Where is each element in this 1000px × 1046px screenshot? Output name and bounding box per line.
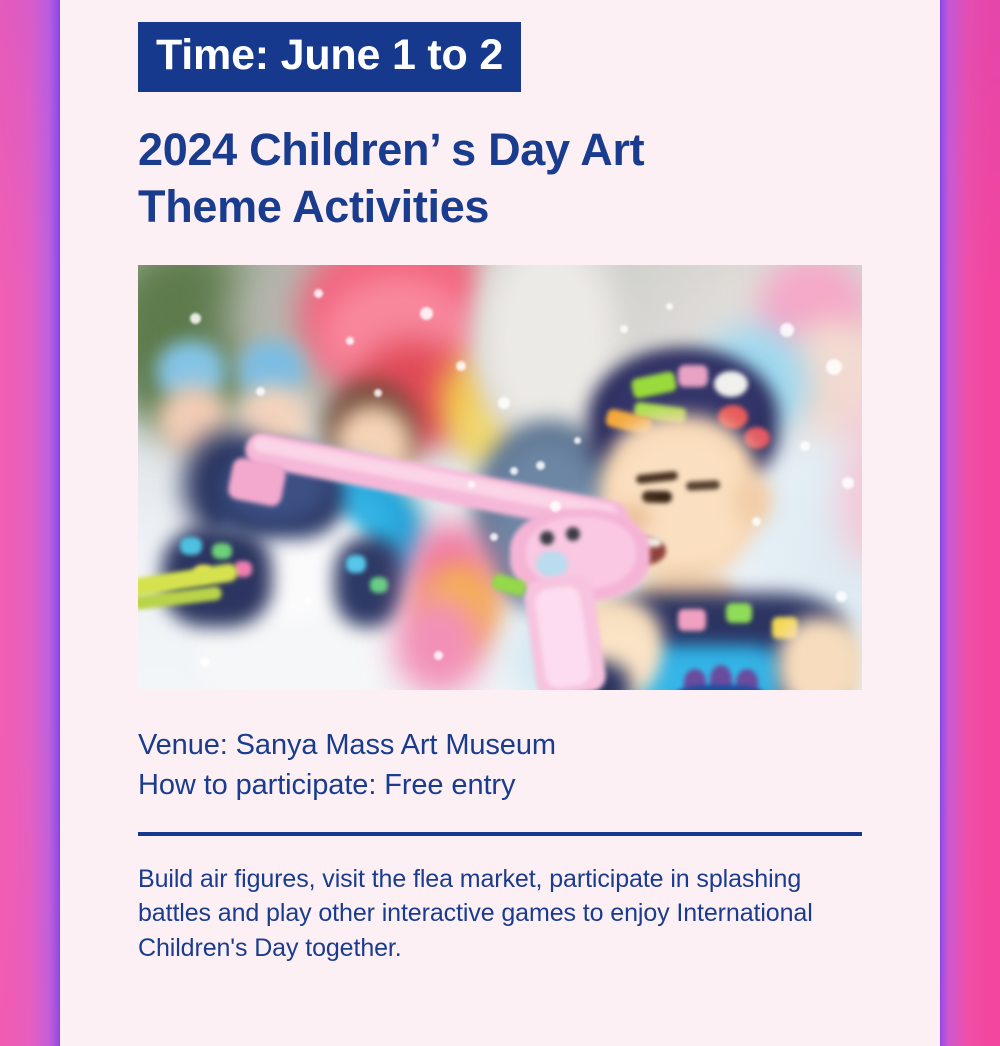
poster-content: Time: June 1 to 2 2024 Children’ s Day A… — [138, 0, 862, 965]
section-divider — [138, 832, 862, 836]
right-gradient-bar — [940, 0, 1000, 1046]
description-text: Build air figures, visit the flea market… — [138, 862, 838, 966]
poster-card: Time: June 1 to 2 2024 Children’ s Day A… — [60, 0, 940, 1046]
venue-line: Venue: Sanya Mass Art Museum — [138, 726, 862, 766]
participation-line: How to participate: Free entry — [138, 766, 862, 806]
info-block: Venue: Sanya Mass Art Museum How to part… — [138, 726, 862, 805]
poster-page: Time: June 1 to 2 2024 Children’ s Day A… — [0, 0, 1000, 1046]
photo-water-droplets — [138, 265, 862, 690]
date-banner: Time: June 1 to 2 — [138, 22, 521, 92]
left-gradient-bar — [0, 0, 60, 1046]
event-photo — [138, 265, 862, 690]
page-title: 2024 Children’ s Day Art Theme Activitie… — [138, 121, 798, 235]
